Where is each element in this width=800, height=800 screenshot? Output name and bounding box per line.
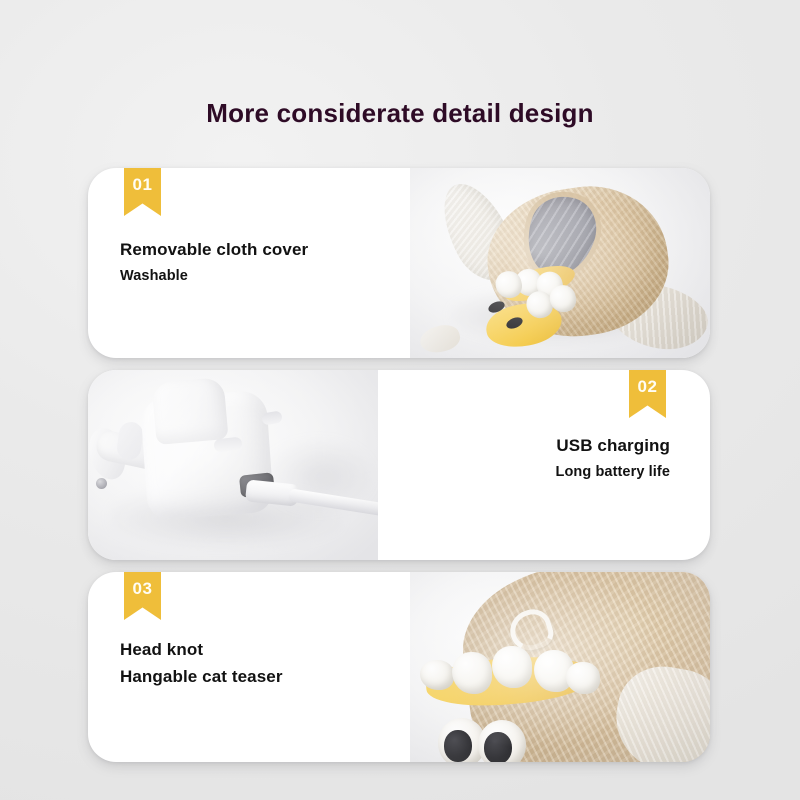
ribbon-badge-number: 03 [133, 579, 153, 598]
ribbon-badge-03: 03 [124, 572, 161, 620]
product-photo-usb-charging [88, 370, 378, 560]
photo-vignette [88, 370, 378, 560]
feature-text-2: USB charging Long battery life [556, 436, 671, 480]
infographic-page: More considerate detail design [0, 0, 800, 800]
feature-heading: Removable cloth cover [120, 240, 308, 260]
ribbon-badge-01: 01 [124, 168, 161, 216]
feature-heading: USB charging [556, 436, 671, 456]
feature-heading: Head knot [120, 640, 283, 660]
product-photo-head-knot [410, 572, 710, 762]
product-photo-removable-cover [410, 168, 710, 358]
ribbon-badge-number: 01 [133, 175, 153, 194]
photo-vignette [410, 168, 710, 358]
feature-text-3: Head knot Hangable cat teaser [120, 640, 283, 687]
feature-subheading: Hangable cat teaser [120, 667, 283, 687]
feature-card-2[interactable]: 02 USB charging Long battery life [88, 370, 710, 560]
feature-subheading: Washable [120, 268, 308, 284]
feature-card-1[interactable]: 01 Removable cloth cover Washable [88, 168, 710, 358]
ribbon-badge-number: 02 [638, 377, 658, 396]
ribbon-badge-02: 02 [629, 370, 666, 418]
feature-subheading: Long battery life [556, 464, 671, 480]
photo-vignette [410, 572, 710, 762]
page-title: More considerate detail design [0, 98, 800, 129]
feature-text-1: Removable cloth cover Washable [120, 240, 308, 284]
feature-card-3[interactable]: 03 Head knot Hangable cat teaser [88, 572, 710, 762]
